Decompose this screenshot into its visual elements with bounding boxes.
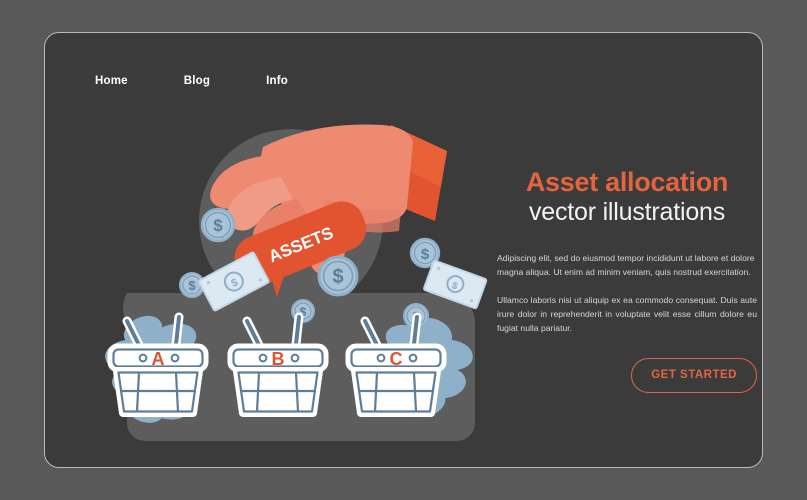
- landing-page-card: Home Blog Info: [44, 32, 763, 468]
- nav-item-info[interactable]: Info: [266, 75, 288, 87]
- coin: $: [202, 209, 234, 241]
- get-started-button[interactable]: GET STARTED: [631, 358, 757, 393]
- basket-a-label: A: [152, 349, 165, 369]
- nav-item-home[interactable]: Home: [95, 75, 128, 87]
- body-paragraph-2: Ullamco laboris nisi ut aliquip ex ea co…: [497, 294, 757, 336]
- svg-text:$: $: [421, 246, 430, 263]
- basket-b-label: B: [272, 349, 285, 369]
- screenshot-root: Home Blog Info: [0, 0, 807, 500]
- body-paragraph-1: Adipiscing elit, sed do eiusmod tempor i…: [497, 252, 757, 280]
- page-title: Asset allocation: [497, 168, 757, 196]
- asset-allocation-illustration: ASSETS $ $ $: [75, 103, 495, 448]
- nav-item-blog[interactable]: Blog: [184, 75, 210, 87]
- main-navigation: Home Blog Info: [95, 75, 288, 87]
- hero-text-column: Asset allocation vector illustrations Ad…: [497, 168, 757, 393]
- svg-text:$: $: [188, 278, 196, 293]
- coin: $: [319, 257, 357, 295]
- svg-text:$: $: [332, 266, 343, 288]
- svg-text:$: $: [213, 216, 223, 235]
- basket-c-label: C: [390, 349, 403, 369]
- cta-container: GET STARTED: [497, 358, 757, 393]
- page-subtitle: vector illustrations: [497, 198, 757, 226]
